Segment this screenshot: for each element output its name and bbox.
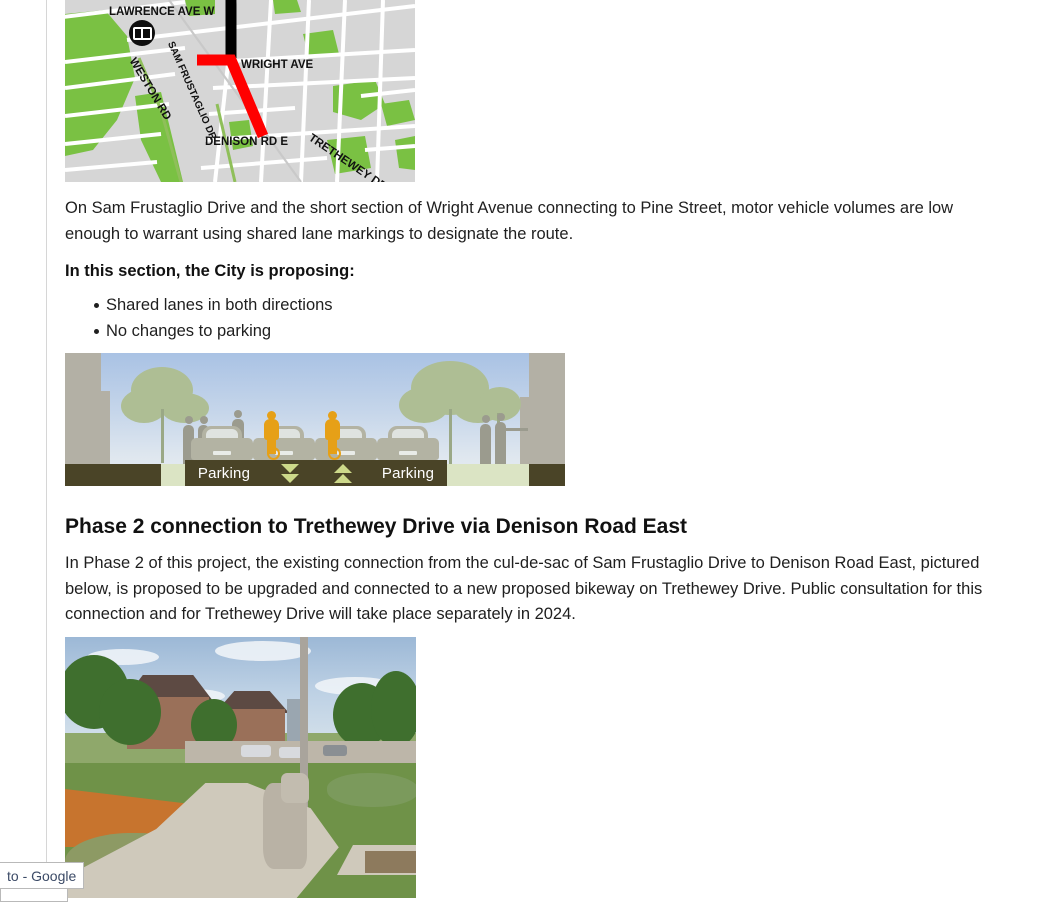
parked-car-photo-1 bbox=[241, 745, 271, 757]
paragraph-shared-lane-rationale: On Sam Frustaglio Drive and the short se… bbox=[65, 196, 1000, 247]
street-cross-section-rendering[interactable]: Parking Parking bbox=[65, 353, 565, 486]
article-content: LAWRENCE AVE W WESTON RD SAM FRUSTAGLIO … bbox=[65, 0, 1013, 182]
pedestrian-right-1 bbox=[480, 424, 491, 464]
pointing-arm bbox=[506, 428, 528, 431]
paragraph-phase-2-description: In Phase 2 of this project, the existing… bbox=[65, 551, 995, 628]
page-title-phase-2: Phase 2 connection to Trethewey Drive vi… bbox=[65, 513, 687, 540]
distant-tower bbox=[287, 699, 301, 747]
chevron-down-icon bbox=[263, 464, 316, 483]
pedestrian-right-2 bbox=[495, 422, 506, 464]
cyclist-northbound bbox=[323, 411, 342, 460]
bikeway-route-map[interactable]: LAWRENCE AVE W WESTON RD SAM FRUSTAGLIO … bbox=[65, 0, 415, 182]
map-label-lawrence-ave-w: LAWRENCE AVE W bbox=[109, 6, 214, 18]
planting-bed-right bbox=[529, 464, 565, 486]
planting-bed-left bbox=[65, 464, 161, 486]
parking-label-left: Parking bbox=[185, 465, 263, 482]
content-left-rule bbox=[46, 0, 47, 895]
parked-car-photo-3 bbox=[323, 745, 347, 756]
cloud bbox=[215, 641, 311, 661]
soil-patch bbox=[365, 851, 416, 873]
proposal-bullet-list: Shared lanes in both directions No chang… bbox=[65, 292, 333, 344]
parked-car-right bbox=[377, 426, 439, 460]
building-left bbox=[65, 353, 101, 466]
browser-status-bar: to - Google bbox=[0, 862, 84, 889]
map-label-denison-rd-e: DENISON RD E bbox=[205, 136, 288, 148]
building-right bbox=[529, 353, 565, 466]
status-bar-text: to - Google bbox=[7, 868, 76, 884]
tree-photo-left-2 bbox=[99, 679, 161, 745]
parked-car-left bbox=[191, 426, 253, 460]
status-bar-shadow bbox=[0, 887, 68, 902]
shrub-bed-right bbox=[327, 773, 416, 807]
boulder-small bbox=[281, 773, 309, 803]
subway-station-icon bbox=[129, 20, 155, 46]
pathway-photograph[interactable] bbox=[65, 637, 416, 898]
list-item: No changes to parking bbox=[65, 318, 333, 344]
map-graphic bbox=[65, 0, 415, 182]
map-label-wright-ave: WRIGHT AVE bbox=[241, 59, 313, 71]
list-item: Shared lanes in both directions bbox=[65, 292, 333, 318]
cyclist-southbound bbox=[262, 411, 281, 460]
parking-label-right: Parking bbox=[369, 465, 447, 482]
chevron-up-icon bbox=[316, 464, 369, 483]
tree-photo-right-2 bbox=[371, 671, 416, 747]
proposal-lead-in: In this section, the City is proposing: bbox=[65, 259, 355, 283]
roadway-label-bar: Parking Parking bbox=[185, 460, 447, 486]
